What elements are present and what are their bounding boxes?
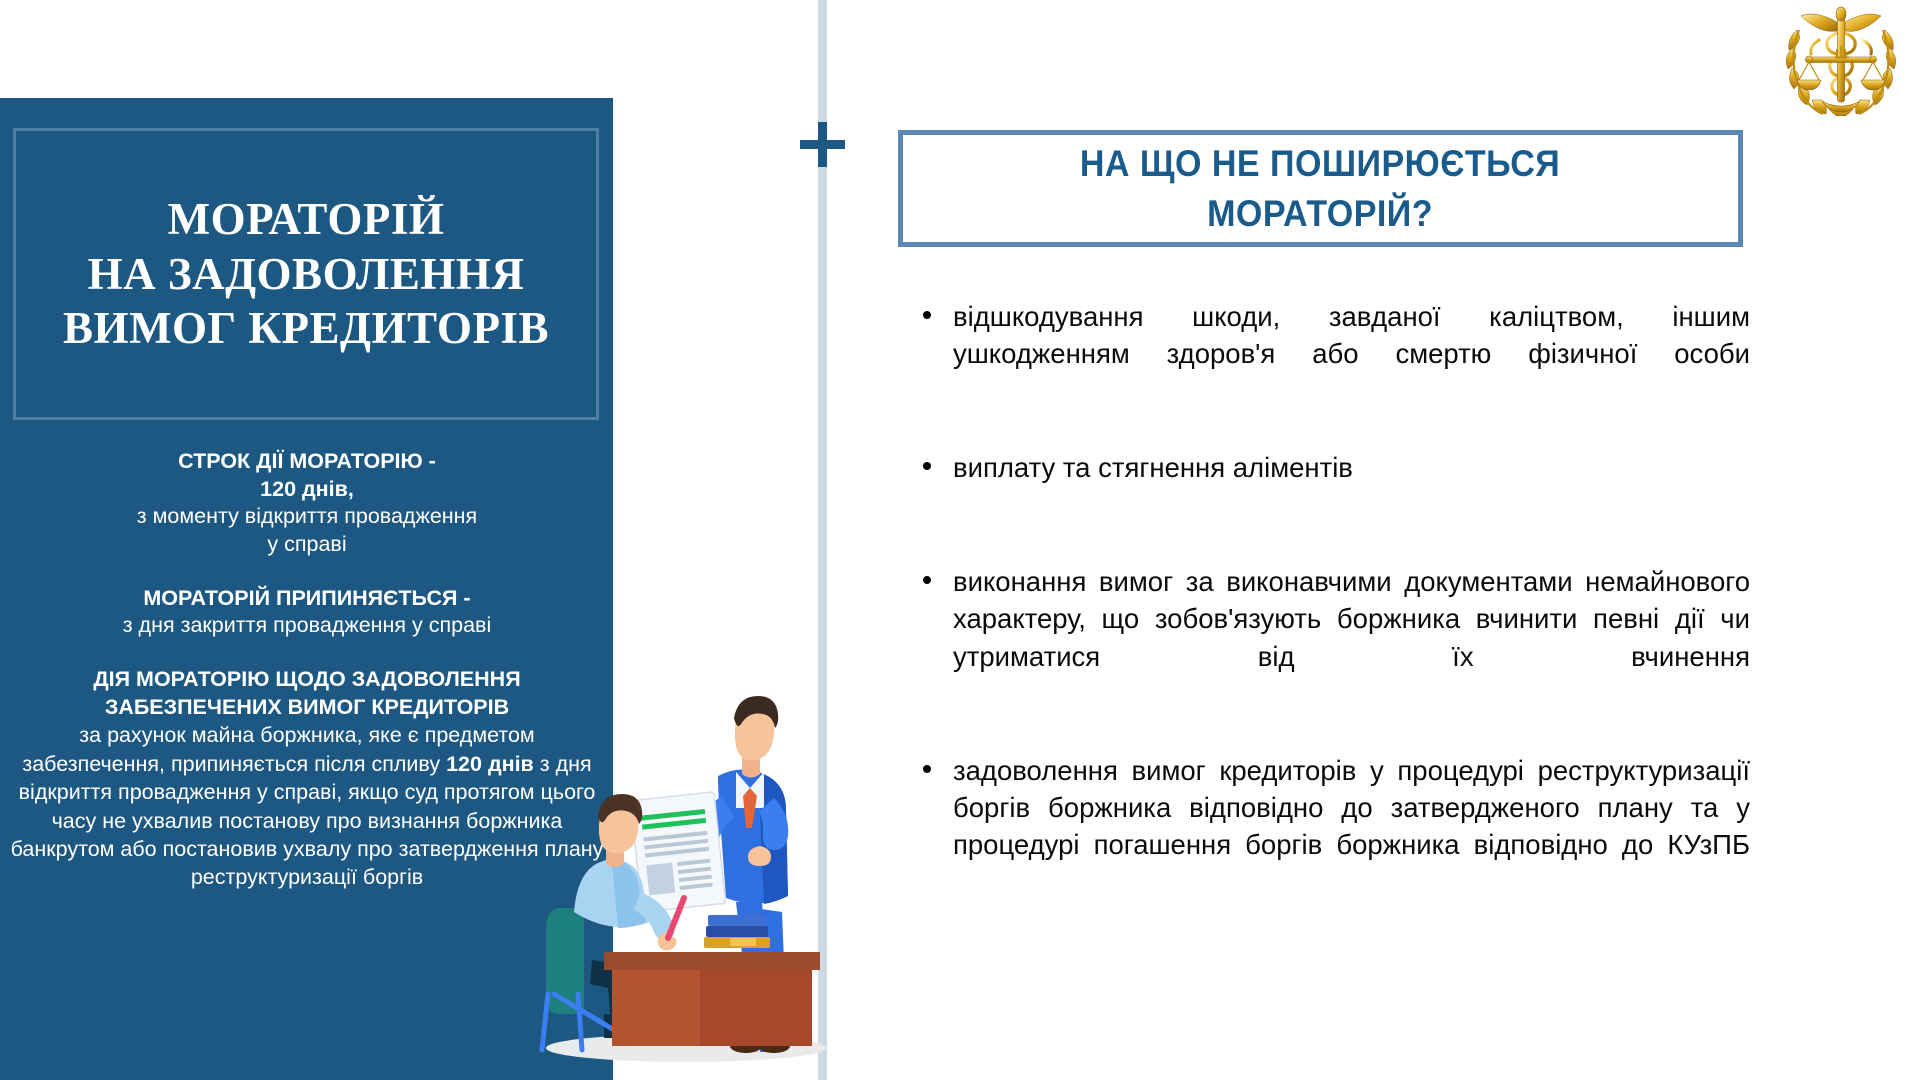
termination-heading: МОРАТОРІЙ ПРИПИНЯЄТЬСЯ -: [8, 585, 606, 613]
moratorium-title-box: МОРАТОРІЙ НА ЗАДОВОЛЕННЯ ВИМОГ КРЕДИТОРІ…: [13, 128, 599, 420]
term-subtext: з моменту відкриття провадження у справі: [8, 503, 606, 559]
exclusions-list: відшкодування шкоди, завданої каліцтвом,…: [915, 298, 1750, 901]
slide-canvas: МОРАТОРІЙ НА ЗАДОВОЛЕННЯ ВИМОГ КРЕДИТОРІ…: [0, 0, 1920, 1080]
bullet-dot-icon: [923, 311, 931, 319]
termination-block: МОРАТОРІЙ ПРИПИНЯЄТЬСЯ - з дня закриття …: [8, 585, 606, 640]
plus-marker-icon: [800, 122, 845, 167]
termination-subtext: з дня закриття провадження у справі: [8, 612, 606, 640]
exclusions-heading-box: НА ЩО НЕ ПОШИРЮЄТЬСЯ МОРАТОРІЙ?: [898, 130, 1743, 247]
bullet-dot-icon: [923, 576, 931, 584]
list-item: виплату та стягнення аліментів: [915, 449, 1750, 524]
list-item-text: виплату та стягнення аліментів: [953, 449, 1750, 524]
term-block: СТРОК ДІЇ МОРАТОРІЮ - 120 днів, з момент…: [8, 448, 606, 559]
term-value: 120 днів,: [8, 476, 606, 504]
list-item: відшкодування шкоди, завданої каліцтвом,…: [915, 298, 1750, 410]
list-item-text: виконання вимог за виконавчими документа…: [953, 563, 1750, 713]
consultation-illustration: [508, 664, 838, 1076]
moratorium-title: МОРАТОРІЙ НА ЗАДОВОЛЕННЯ ВИМОГ КРЕДИТОРІ…: [63, 192, 549, 357]
ministry-of-justice-emblem: [1779, 4, 1903, 116]
exclusions-heading: НА ЩО НЕ ПОШИРЮЄТЬСЯ МОРАТОРІЙ?: [1080, 139, 1560, 239]
bullet-dot-icon: [923, 462, 931, 470]
list-item-text: відшкодування шкоди, завданої каліцтвом,…: [953, 298, 1750, 410]
plus-vertical-bar: [818, 122, 827, 167]
books-stack: [704, 915, 770, 948]
list-item-text: задоволення вимог кредиторів у процедурі…: [953, 752, 1750, 902]
bullet-dot-icon: [923, 765, 931, 773]
term-heading: СТРОК ДІЇ МОРАТОРІЮ -: [8, 448, 606, 476]
desk-top: [604, 952, 820, 970]
list-item: виконання вимог за виконавчими документа…: [915, 563, 1750, 713]
list-item: задоволення вимог кредиторів у процедурі…: [915, 752, 1750, 902]
